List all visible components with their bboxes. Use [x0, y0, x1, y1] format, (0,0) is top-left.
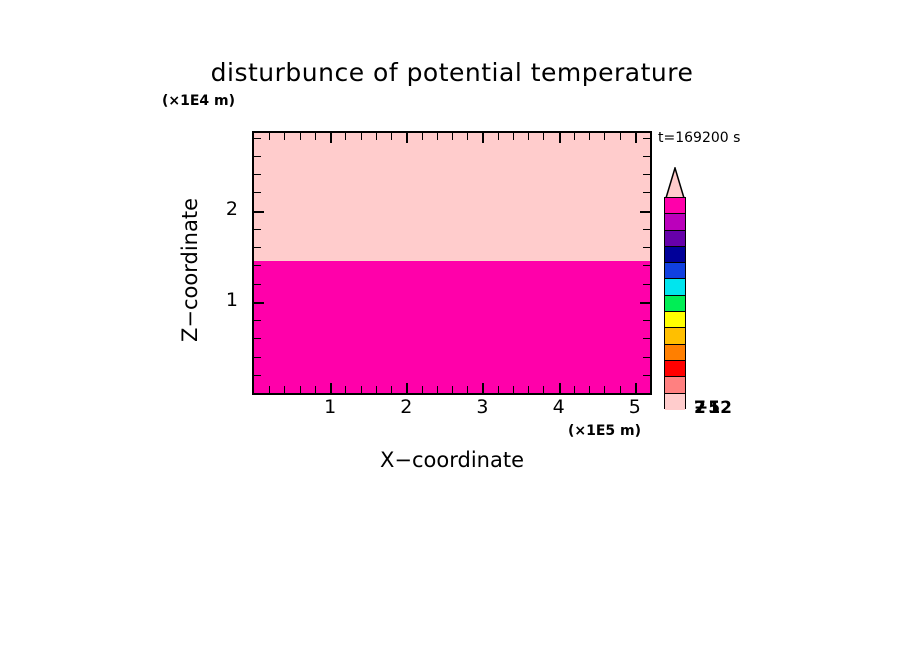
axis-tick	[643, 338, 650, 339]
colorbar-arrow-icon	[664, 167, 686, 199]
y-unit-label: (×1E4 m)	[162, 93, 235, 109]
axis-tick	[643, 229, 650, 230]
axis-tick	[559, 383, 561, 393]
axis-tick	[315, 133, 316, 140]
axis-tick	[650, 386, 651, 393]
axis-tick	[589, 386, 590, 393]
colorbar-band	[665, 279, 685, 295]
axis-tick	[643, 156, 650, 157]
axis-tick	[361, 133, 362, 140]
axis-tick	[254, 174, 261, 175]
axis-tick	[643, 138, 650, 139]
colorbar-band	[665, 198, 685, 214]
x-axis-title: X−coordinate	[0, 448, 904, 472]
axis-tick	[574, 133, 575, 140]
x-tick-label: 4	[544, 396, 574, 418]
axis-tick	[650, 133, 651, 140]
axis-tick	[437, 386, 438, 393]
axis-tick	[437, 133, 438, 140]
axis-tick	[406, 133, 408, 143]
y-axis-title: Z−coordinate	[178, 150, 208, 390]
axis-tick	[643, 320, 650, 321]
axis-tick	[620, 133, 621, 140]
axis-tick	[254, 247, 261, 248]
axis-tick	[635, 383, 637, 393]
axis-tick	[269, 386, 270, 393]
axis-tick	[254, 156, 261, 157]
axis-tick	[482, 383, 484, 393]
axis-tick	[640, 211, 650, 213]
axis-tick	[635, 133, 637, 143]
axis-tick	[467, 386, 468, 393]
axis-tick	[604, 133, 605, 140]
colorbar-band	[665, 328, 685, 344]
axis-tick	[643, 192, 650, 193]
page-title: disturbunce of potential temperature	[0, 58, 904, 87]
axis-tick	[391, 386, 392, 393]
figure-canvas: disturbunce of potential temperature (×1…	[0, 0, 904, 654]
axis-tick	[467, 133, 468, 140]
axis-tick	[254, 375, 261, 376]
axis-tick	[498, 386, 499, 393]
axis-tick	[528, 386, 529, 393]
x-tick-label: 1	[315, 396, 345, 418]
axis-tick	[543, 133, 544, 140]
colorbar-band	[665, 345, 685, 361]
axis-tick	[452, 133, 453, 140]
axis-tick	[643, 357, 650, 358]
axis-tick	[284, 133, 285, 140]
axis-tick	[589, 133, 590, 140]
axis-tick	[543, 386, 544, 393]
axis-tick	[422, 386, 423, 393]
axis-tick	[513, 386, 514, 393]
axis-tick	[482, 133, 484, 143]
axis-tick	[361, 386, 362, 393]
y-tick-label: 2	[212, 198, 238, 220]
axis-tick	[254, 338, 261, 339]
axis-tick	[315, 386, 316, 393]
axis-tick	[376, 386, 377, 393]
colorbar-band	[665, 214, 685, 230]
colorbar-band	[665, 247, 685, 263]
axis-tick	[254, 229, 261, 230]
colorbar-band	[665, 312, 685, 328]
x-tick-label: 3	[467, 396, 497, 418]
axis-tick	[330, 133, 332, 143]
colorbar-band	[665, 231, 685, 247]
axis-tick	[559, 133, 561, 143]
axis-tick	[284, 386, 285, 393]
axis-tick	[640, 302, 650, 304]
axis-tick	[376, 133, 377, 140]
axis-tick	[643, 265, 650, 266]
axis-tick	[574, 386, 575, 393]
axis-tick	[254, 138, 261, 139]
axis-tick	[254, 357, 261, 358]
colorbar-band	[665, 296, 685, 312]
timestamp-label: t=169200 s	[658, 130, 740, 146]
axis-tick	[254, 320, 261, 321]
axis-tick	[254, 211, 264, 213]
axis-tick	[300, 133, 301, 140]
axis-tick	[452, 386, 453, 393]
axis-tick	[643, 284, 650, 285]
axis-tick	[643, 375, 650, 376]
axis-tick	[391, 133, 392, 140]
axis-tick	[254, 284, 261, 285]
axis-tick	[269, 133, 270, 140]
axis-tick	[422, 133, 423, 140]
axis-tick	[604, 386, 605, 393]
axis-tick	[643, 247, 650, 248]
axis-tick	[513, 133, 514, 140]
x-tick-label: 2	[391, 396, 421, 418]
y-tick-label: 1	[212, 289, 238, 311]
colorbar-band	[665, 361, 685, 377]
colorbar-band	[665, 377, 685, 393]
axis-tick	[254, 302, 264, 304]
axis-tick	[620, 386, 621, 393]
axis-tick	[330, 383, 332, 393]
axis-tick	[528, 133, 529, 140]
colorbar-band	[665, 394, 685, 410]
axis-tick	[406, 383, 408, 393]
axis-tick	[345, 386, 346, 393]
colorbar-band	[665, 263, 685, 279]
x-unit-label: (×1E5 m)	[568, 423, 641, 439]
axis-tick	[254, 265, 261, 266]
contour-field-canvas	[254, 133, 650, 393]
colorbar-bands	[664, 197, 686, 409]
contour-plot-area	[252, 131, 652, 395]
axis-tick	[300, 386, 301, 393]
x-tick-label: 5	[620, 396, 650, 418]
axis-tick	[345, 133, 346, 140]
axis-tick	[643, 174, 650, 175]
axis-tick	[254, 192, 261, 193]
colorbar-tick-label: −12	[694, 398, 732, 418]
axis-tick	[498, 133, 499, 140]
